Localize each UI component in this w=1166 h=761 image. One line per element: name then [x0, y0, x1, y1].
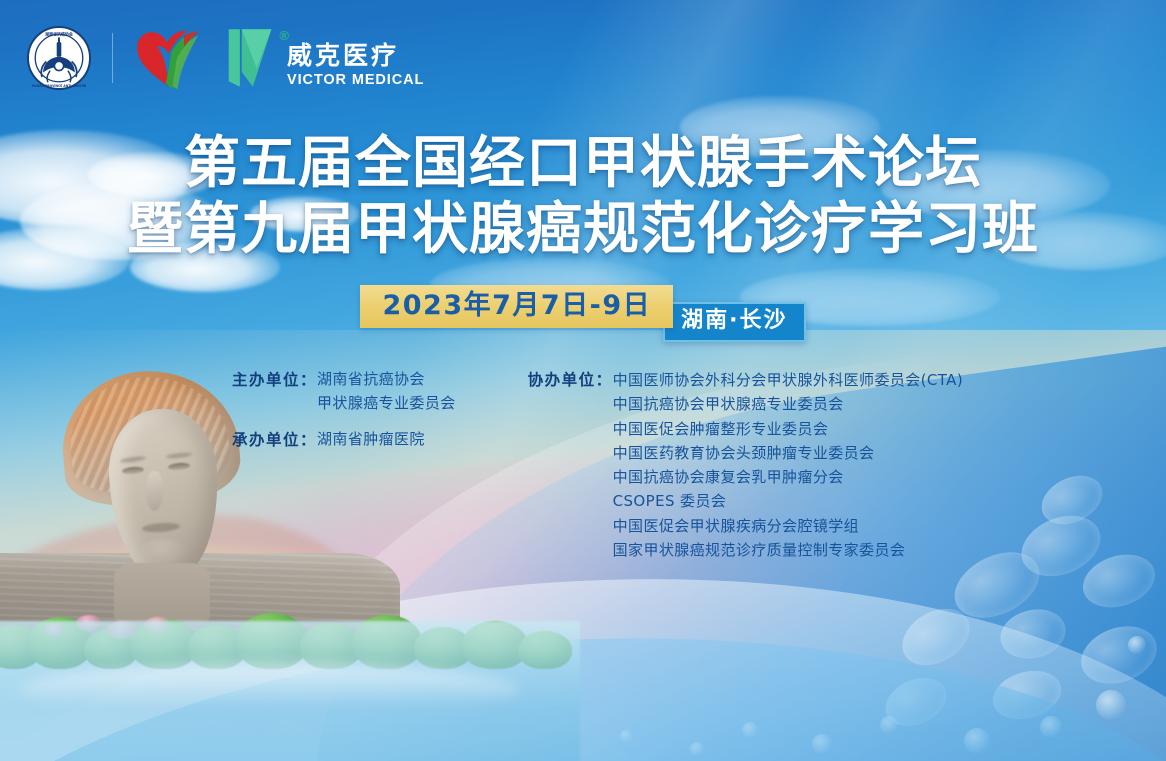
coorganizer-value: CSOPES 委员会 — [613, 489, 963, 513]
registered-trademark-icon: ® — [279, 29, 289, 42]
undertaker-value: 湖南省肿瘤医院 — [317, 428, 425, 452]
victor-v-mark-icon: ® — [225, 27, 277, 89]
host-label: 主办单位： — [232, 368, 317, 392]
coorganizer-value: 中国医促会肿瘤整形专业委员会 — [613, 417, 963, 441]
badge-group: 2023年7月7日-9日 湖南·长沙 — [360, 285, 805, 342]
victor-name-en: VICTOR MEDICAL — [287, 72, 424, 89]
heart-logo — [131, 24, 225, 92]
conference-poster: 湖南省抗癌协会 HUNAN PROVINCE ANTI-CANCER — [0, 0, 1166, 761]
badge-row: 2023年7月7日-9日 湖南·长沙 — [0, 285, 1166, 342]
title-line-2: 暨第九届甲状腺癌规范化诊疗学习班 — [0, 202, 1166, 258]
logo-bar: 湖南省抗癌协会 HUNAN PROVINCE ANTI-CANCER — [26, 24, 424, 92]
association-seal-logo: 湖南省抗癌协会 HUNAN PROVINCE ANTI-CANCER — [26, 25, 92, 91]
location-badge: 湖南·长沙 — [663, 302, 805, 342]
organizer-column-left: 主办单位： 湖南省抗癌协会 甲状腺癌专业委员会 承办单位： 湖南省肿瘤医院 — [232, 368, 456, 562]
title-line-1: 第五届全国经口甲状腺手术论坛 — [0, 136, 1166, 192]
svg-text:湖南省抗癌协会: 湖南省抗癌协会 — [45, 32, 73, 37]
svg-text:HUNAN PROVINCE ANTI-CANCER: HUNAN PROVINCE ANTI-CANCER — [32, 84, 87, 88]
coorganizer-label: 协办单位： — [528, 368, 613, 392]
coorganizer-value: 国家甲状腺癌规范诊疗质量控制专家委员会 — [613, 538, 963, 562]
organizer-column-right: 协办单位： 中国医师协会外科分会甲状腺外科医师委员会(CTA) 中国抗癌协会甲状… — [528, 368, 963, 562]
coorganizer-value: 中国医促会甲状腺疾病分会腔镜学组 — [613, 514, 963, 538]
coorganizer-value: 中国医药教育协会头颈肿瘤专业委员会 — [613, 441, 963, 465]
coorganizer-value: 中国抗癌协会康复会乳甲肿瘤分会 — [613, 465, 963, 489]
undertaker-group: 承办单位： 湖南省肿瘤医院 — [232, 428, 456, 452]
victor-medical-logo: ® 威克医疗 VICTOR MEDICAL — [225, 27, 424, 89]
victor-text-block: 威克医疗 VICTOR MEDICAL — [287, 27, 424, 89]
host-values: 湖南省抗癌协会 甲状腺癌专业委员会 — [317, 368, 456, 415]
host-group: 主办单位： 湖南省抗癌协会 甲状腺癌专业委员会 — [232, 368, 456, 415]
association-seal-icon: 湖南省抗癌协会 HUNAN PROVINCE ANTI-CANCER — [26, 25, 92, 91]
poster-title: 第五届全国经口甲状腺手术论坛 暨第九届甲状腺癌规范化诊疗学习班 — [0, 136, 1166, 258]
heart-logo-icon — [131, 24, 203, 92]
coorganizer-value: 中国医师协会外科分会甲状腺外科医师委员会(CTA) — [613, 368, 963, 392]
host-value: 湖南省抗癌协会 — [317, 368, 456, 392]
victor-name-cn: 威克医疗 — [287, 43, 424, 70]
coorganizer-values: 中国医师协会外科分会甲状腺外科医师委员会(CTA) 中国抗癌协会甲状腺癌专业委员… — [613, 368, 963, 562]
undertaker-label: 承办单位： — [232, 428, 317, 452]
coorganizer-value: 中国抗癌协会甲状腺癌专业委员会 — [613, 392, 963, 416]
logo-divider — [112, 33, 113, 83]
organizer-info: 主办单位： 湖南省抗癌协会 甲状腺癌专业委员会 承办单位： 湖南省肿瘤医院 协办… — [232, 368, 963, 562]
date-badge: 2023年7月7日-9日 — [360, 285, 673, 328]
undertaker-values: 湖南省肿瘤医院 — [317, 428, 425, 452]
coorganizer-group: 协办单位： 中国医师协会外科分会甲状腺外科医师委员会(CTA) 中国抗癌协会甲状… — [528, 368, 963, 562]
host-value: 甲状腺癌专业委员会 — [317, 392, 456, 416]
